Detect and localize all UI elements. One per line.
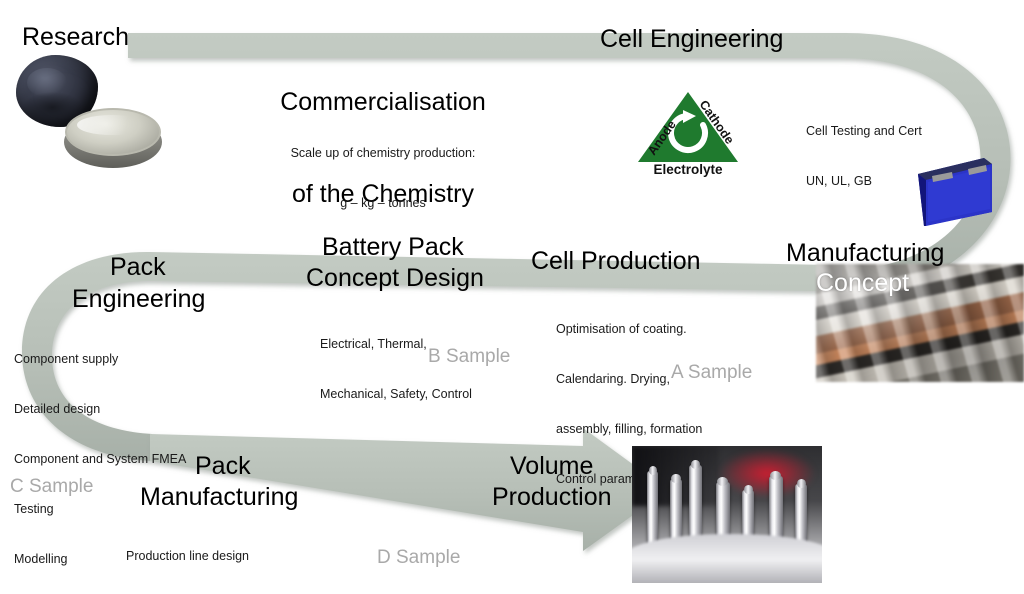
volume-production-image xyxy=(632,446,822,583)
stage-title-manufacturing-concept-line1: Manufacturing xyxy=(786,240,986,268)
detail-line: g – kg – tonnes xyxy=(258,195,508,212)
stage-title-battery-pack-line1: Battery Pack xyxy=(322,234,502,262)
stage-title-research: Research xyxy=(22,24,162,52)
detail-line: Cell Testing and Cert xyxy=(806,123,956,140)
stage-title-volume-production-line2: Production xyxy=(492,484,652,512)
sample-label-b: B Sample xyxy=(428,347,548,368)
stage-details-pack-manufacturing: Production line design Production equipm… xyxy=(126,515,406,594)
logo-label-electrolyte: Electrolyte xyxy=(653,162,723,177)
process-flow-diagram: Research Commercialisation of the Chemis… xyxy=(0,0,1024,594)
coin-cell-image xyxy=(64,108,162,170)
stage-title-volume-production-line1: Volume xyxy=(510,453,640,481)
detail-line: Detailed design xyxy=(14,401,244,418)
stage-title-pack-engineering-line1: Pack xyxy=(110,254,210,282)
stage-title-pack-manufacturing-line1: Pack xyxy=(195,453,295,481)
detail-line: Mechanical, Safety, Control xyxy=(320,386,550,403)
detail-line: Production line design xyxy=(126,548,406,565)
chemistry-triangle-logo: Anode Cathode Electrolyte xyxy=(634,86,742,178)
stage-details-commercialisation: Scale up of chemistry production: g – kg… xyxy=(258,112,508,245)
stage-title-manufacturing-concept-line2: Concept xyxy=(816,270,976,298)
sample-label-c: C Sample xyxy=(10,477,130,498)
stage-title-cell-production: Cell Production xyxy=(531,248,751,276)
prismatic-cell-image xyxy=(912,152,996,230)
stage-title-battery-pack-line2: Concept Design xyxy=(306,265,506,293)
sample-label-d: D Sample xyxy=(377,548,497,569)
stage-title-pack-manufacturing-line2: Manufacturing xyxy=(140,484,340,512)
stage-details-battery-pack: Electrical, Thermal, Mechanical, Safety,… xyxy=(320,303,550,436)
stage-title-cell-engineering: Cell Engineering xyxy=(600,26,810,54)
detail-line: Scale up of chemistry production: xyxy=(258,145,508,162)
detail-line: Component supply xyxy=(14,351,244,368)
stage-title-pack-engineering-line2: Engineering xyxy=(72,286,242,314)
detail-line: Optimisation of coating. xyxy=(556,321,786,338)
sample-label-a: A Sample xyxy=(671,363,791,384)
detail-line: assembly, filling, formation xyxy=(556,421,786,438)
